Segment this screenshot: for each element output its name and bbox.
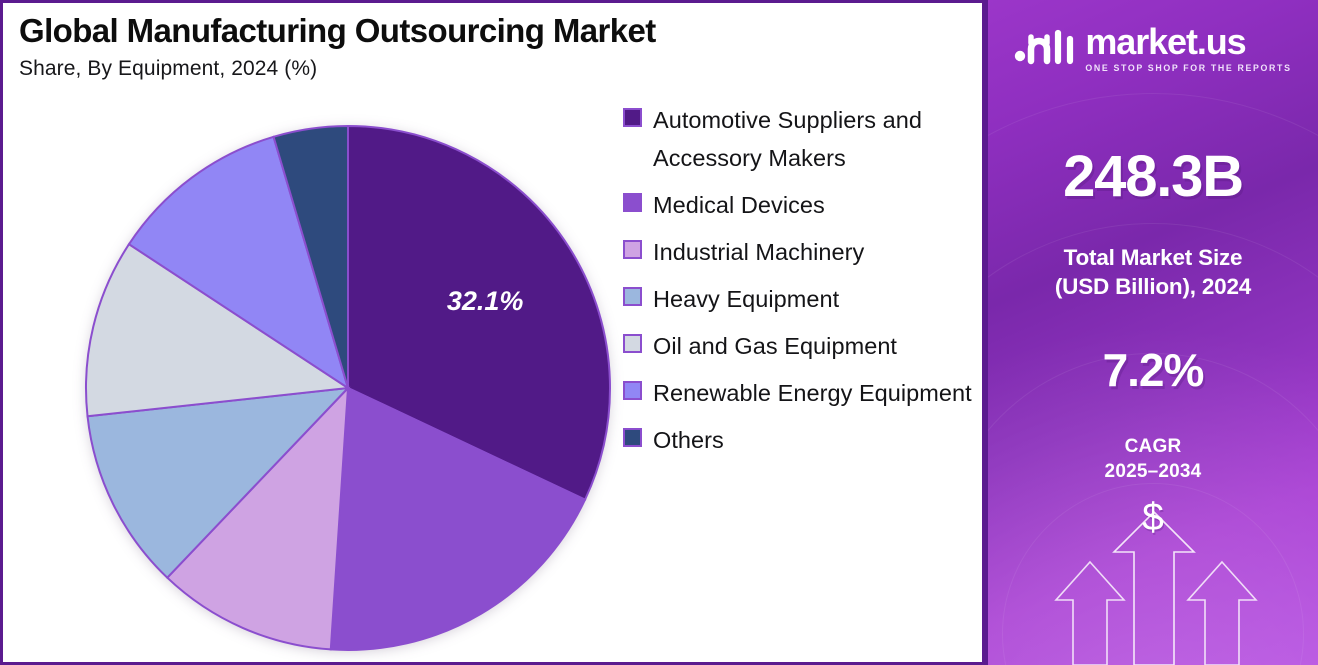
legend-swatch-icon [623, 428, 642, 447]
legend-swatch-icon [623, 287, 642, 306]
legend-swatch-icon [623, 108, 642, 127]
legend-item[interactable]: Automotive Suppliers and Accessory Maker… [623, 101, 973, 177]
secondary-stat-value: 7.2% [988, 343, 1318, 397]
page-subtitle: Share, By Equipment, 2024 (%) [19, 57, 949, 81]
legend-item[interactable]: Oil and Gas Equipment [623, 327, 973, 365]
brand-name: market.us [1085, 24, 1291, 60]
stats-panel: market.us ONE STOP SHOP FOR THE REPORTS … [985, 0, 1318, 665]
growth-arrows-icon [988, 490, 1318, 665]
secondary-stat-label: CAGR 2025–2034 [988, 434, 1318, 485]
legend-item-label: Medical Devices [653, 186, 825, 224]
legend-item[interactable]: Others [623, 421, 973, 459]
legend-item-label: Automotive Suppliers and Accessory Maker… [653, 101, 973, 177]
legend-item[interactable]: Medical Devices [623, 186, 973, 224]
legend-swatch-icon [623, 381, 642, 400]
pie-chart: 32.1% [81, 121, 615, 655]
legend-item[interactable]: Heavy Equipment [623, 280, 973, 318]
legend-item-label: Others [653, 421, 724, 459]
primary-stat-label-line1: Total Market Size [988, 244, 1318, 273]
legend-item-label: Heavy Equipment [653, 280, 839, 318]
primary-stat-value: 248.3B [988, 143, 1318, 210]
brand-tagline: ONE STOP SHOP FOR THE REPORTS [1085, 63, 1291, 73]
legend: Automotive Suppliers and Accessory Maker… [623, 101, 973, 469]
legend-item[interactable]: Industrial Machinery [623, 233, 973, 271]
legend-item-label: Oil and Gas Equipment [653, 327, 897, 365]
legend-item-label: Industrial Machinery [653, 233, 864, 271]
chart-panel: Global Manufacturing Outsourcing Market … [0, 0, 985, 665]
primary-stat-label-line2: (USD Billion), 2024 [988, 273, 1318, 302]
legend-item[interactable]: Renewable Energy Equipment [623, 374, 973, 412]
legend-item-label: Renewable Energy Equipment [653, 374, 972, 412]
secondary-stat-label-line1: CAGR [988, 434, 1318, 459]
infographic-page: Global Manufacturing Outsourcing Market … [0, 0, 1318, 665]
title-block: Global Manufacturing Outsourcing Market … [19, 13, 949, 81]
pie-svg: 32.1% [81, 121, 615, 655]
legend-swatch-icon [623, 193, 642, 212]
legend-swatch-icon [623, 240, 642, 259]
pie-data-labels: 32.1% [447, 286, 524, 316]
pie-slices [86, 126, 610, 650]
market-us-logo-icon [1014, 25, 1076, 71]
brand-logo[interactable]: market.us ONE STOP SHOP FOR THE REPORTS [988, 22, 1318, 73]
page-title: Global Manufacturing Outsourcing Market [19, 13, 949, 50]
legend-swatch-icon [623, 334, 642, 353]
brand-text: market.us ONE STOP SHOP FOR THE REPORTS [1085, 24, 1291, 73]
secondary-stat-label-line2: 2025–2034 [988, 459, 1318, 484]
pie-data-label: 32.1% [447, 286, 524, 316]
primary-stat-label: Total Market Size (USD Billion), 2024 [988, 244, 1318, 302]
